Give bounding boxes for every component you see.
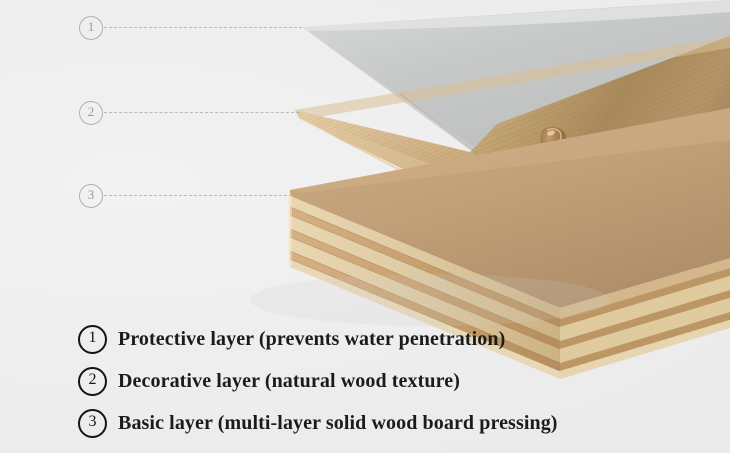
callout-leader-3 xyxy=(104,195,292,196)
legend-item-1: 1 Protective layer (prevents water penet… xyxy=(78,318,638,360)
callout-marker-1: 1 xyxy=(79,16,103,40)
legend-label-2: Decorative layer (natural wood texture) xyxy=(118,370,460,393)
legend-item-2: 2 Decorative layer (natural wood texture… xyxy=(78,360,638,402)
legend-number-1: 1 xyxy=(78,325,107,354)
callout-leader-1 xyxy=(104,27,302,28)
legend-label-3: Basic layer (multi-layer solid wood boar… xyxy=(118,412,558,435)
legend-item-3: 3 Basic layer (multi-layer solid wood bo… xyxy=(78,402,638,444)
legend-number-2: 2 xyxy=(78,367,107,396)
legend: 1 Protective layer (prevents water penet… xyxy=(78,318,638,444)
legend-label-1: Protective layer (prevents water penetra… xyxy=(118,328,505,351)
diagram-canvas: 1 2 3 1 Protective layer (prevents water… xyxy=(0,0,730,453)
legend-number-3: 3 xyxy=(78,409,107,438)
callout-marker-3: 3 xyxy=(79,184,103,208)
callout-marker-2: 2 xyxy=(79,101,103,125)
callout-leader-2 xyxy=(104,112,299,113)
